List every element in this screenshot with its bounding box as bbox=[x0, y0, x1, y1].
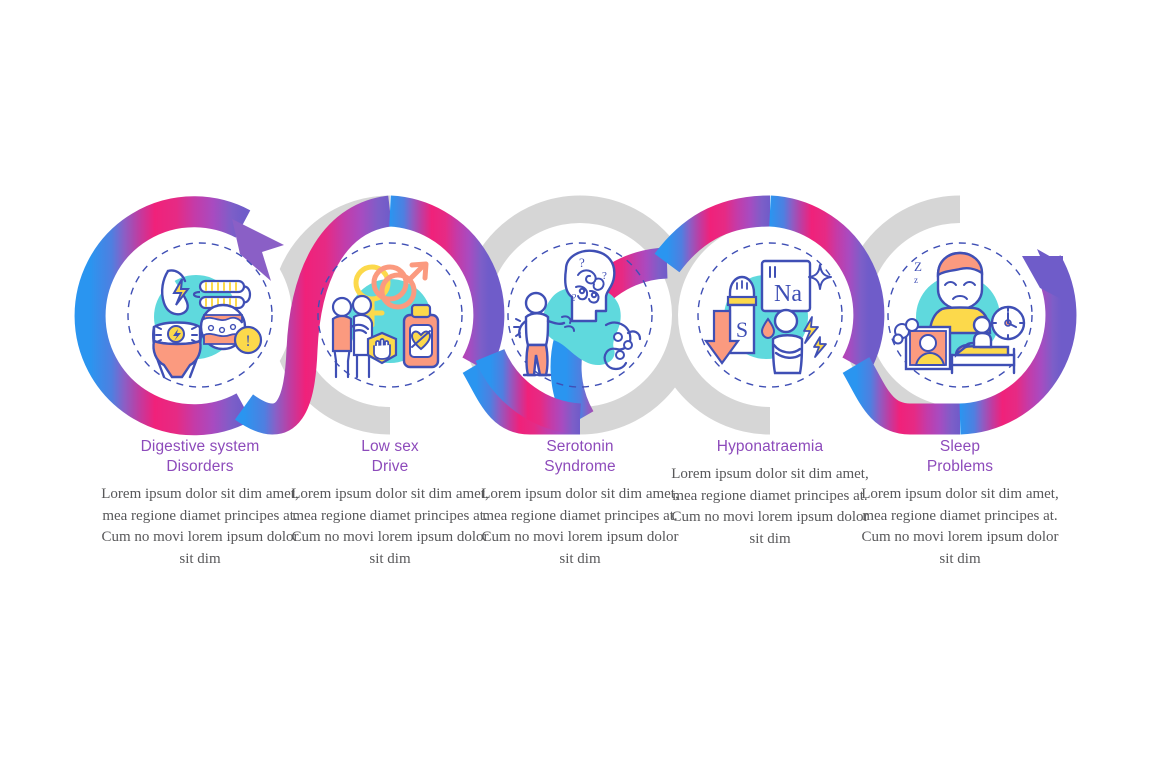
step-body-4: Lorem ipsum dolor sit dim amet, mea regi… bbox=[670, 464, 870, 550]
sparkle-icon bbox=[809, 265, 831, 289]
step-title-5: Sleep Problems bbox=[860, 437, 1060, 477]
sodium-symbol-label: Na bbox=[774, 281, 802, 307]
wave-ribbon-graphic bbox=[0, 0, 1160, 772]
zzz-label-1: Z bbox=[914, 259, 922, 274]
step-block-2: Low sex Drive Lorem ipsum dolor sit dim … bbox=[290, 437, 490, 570]
step-title-2: Low sex Drive bbox=[290, 437, 490, 477]
digestive-system-icon: ! bbox=[130, 245, 270, 385]
alert-mark: ! bbox=[245, 333, 250, 350]
question-mark-2: ? bbox=[602, 270, 607, 282]
serotonin-syndrome-icon: ? ? ? bbox=[510, 245, 650, 385]
sleep-problems-icon: Z z bbox=[890, 245, 1030, 385]
step-body-2: Lorem ipsum dolor sit dim amet, mea regi… bbox=[290, 484, 490, 570]
step-block-1: Digestive system Disorders Lorem ipsum d… bbox=[100, 437, 300, 570]
salt-symbol-label: S bbox=[736, 317, 748, 342]
question-mark-3: ? bbox=[572, 293, 577, 304]
zzz-label-2: z bbox=[914, 275, 918, 285]
step-block-5: Sleep Problems Lorem ipsum dolor sit dim… bbox=[860, 437, 1060, 570]
step-body-5: Lorem ipsum dolor sit dim amet, mea regi… bbox=[860, 484, 1060, 570]
step-body-1: Lorem ipsum dolor sit dim amet, mea regi… bbox=[100, 484, 300, 570]
step-block-3: Serotonin Syndrome Lorem ipsum dolor sit… bbox=[480, 437, 680, 570]
step-title-3: Serotonin Syndrome bbox=[480, 437, 680, 477]
step-title-1: Digestive system Disorders bbox=[100, 437, 300, 477]
hyponatraemia-icon: S Na bbox=[700, 245, 840, 385]
low-sex-drive-icon bbox=[320, 245, 460, 385]
question-mark-1: ? bbox=[579, 255, 585, 270]
infographic-canvas: ! bbox=[0, 0, 1160, 772]
step-body-3: Lorem ipsum dolor sit dim amet, mea regi… bbox=[480, 484, 680, 570]
step-block-4: Hyponatraemia Lorem ipsum dolor sit dim … bbox=[670, 437, 870, 550]
step-title-4: Hyponatraemia bbox=[670, 437, 870, 457]
